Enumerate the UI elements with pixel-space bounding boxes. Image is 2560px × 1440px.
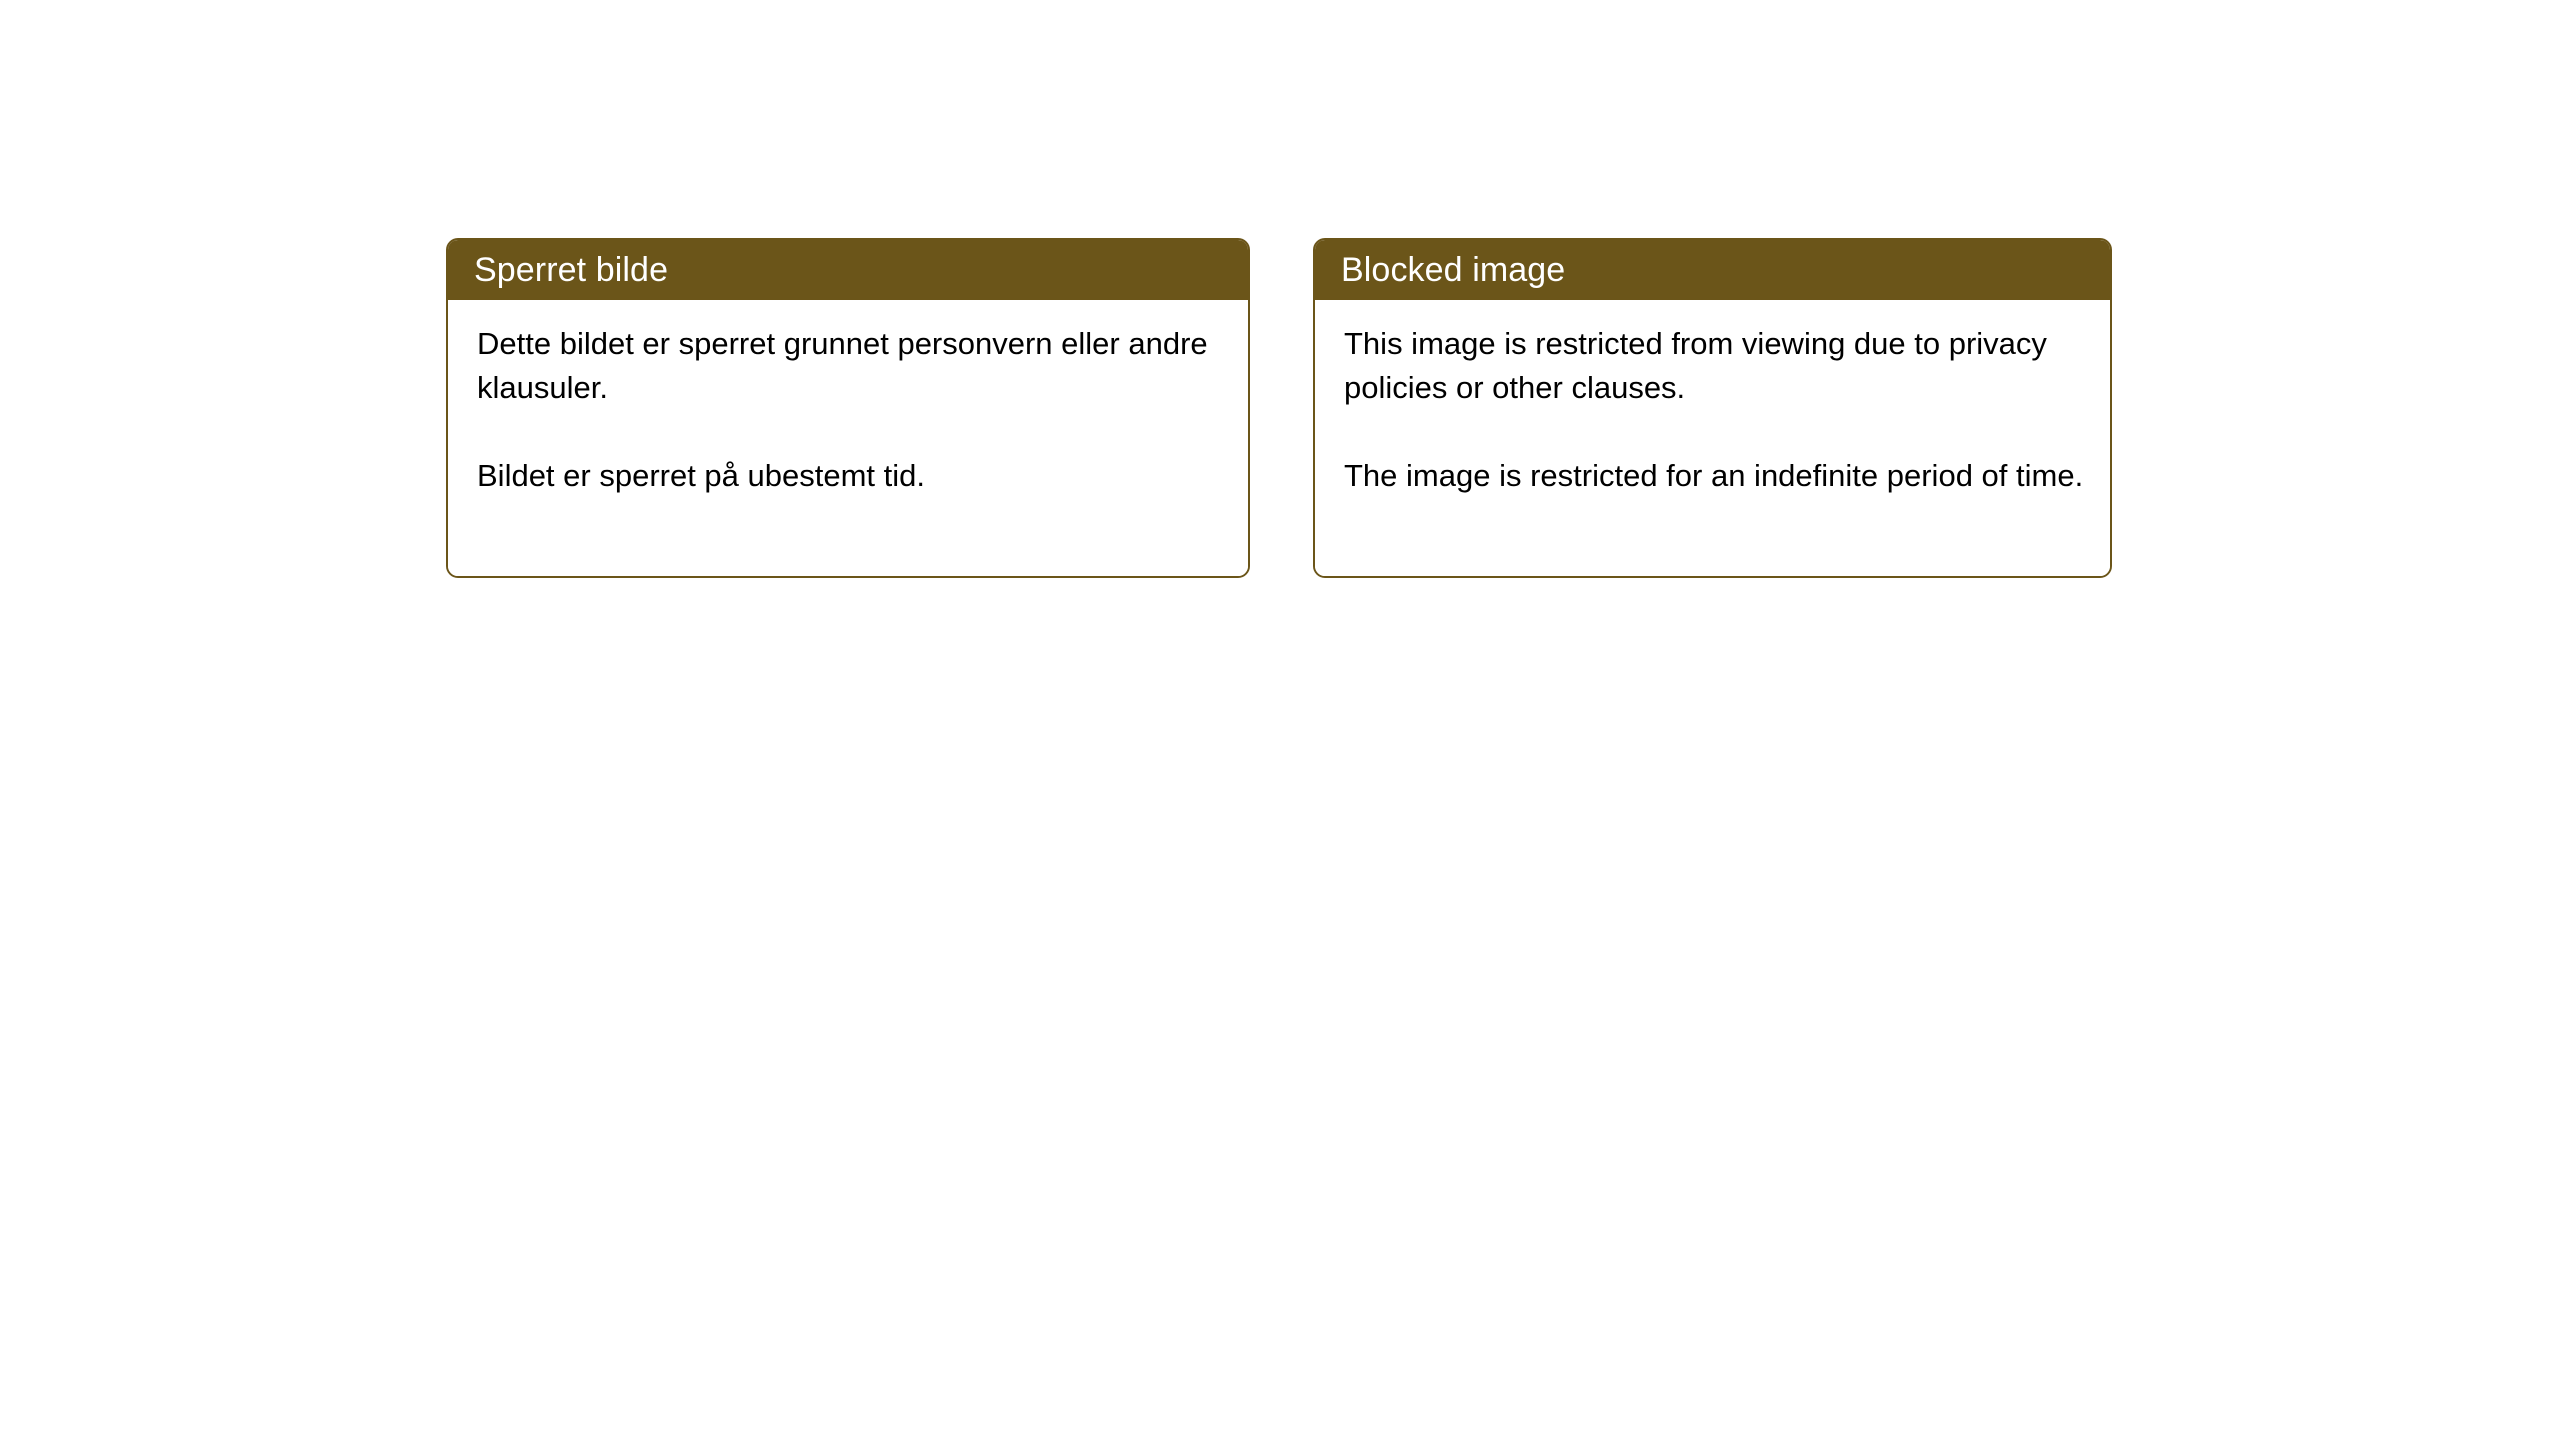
page-root: Sperret bilde Dette bildet er sperret gr…: [0, 0, 2560, 1440]
panel-title-english: Blocked image: [1341, 251, 1565, 289]
panel-body-english: This image is restricted from viewing du…: [1315, 300, 2110, 576]
panel-body-norwegian: Dette bildet er sperret grunnet personve…: [448, 300, 1248, 576]
blocked-image-panel-english: Blocked image This image is restricted f…: [1313, 238, 2112, 578]
panel-paragraph-duration-norwegian: Bildet er sperret på ubestemt tid.: [477, 454, 1222, 498]
panel-title-norwegian: Sperret bilde: [474, 251, 668, 289]
blocked-image-panel-norwegian: Sperret bilde Dette bildet er sperret gr…: [446, 238, 1250, 578]
panel-header-english: Blocked image: [1315, 240, 2110, 300]
panel-header-norwegian: Sperret bilde: [448, 240, 1248, 300]
notice-panel-row: Sperret bilde Dette bildet er sperret gr…: [446, 238, 2112, 578]
panel-paragraph-duration-english: The image is restricted for an indefinit…: [1344, 454, 2084, 498]
panel-paragraph-reason-norwegian: Dette bildet er sperret grunnet personve…: [477, 322, 1222, 410]
panel-paragraph-reason-english: This image is restricted from viewing du…: [1344, 322, 2084, 410]
